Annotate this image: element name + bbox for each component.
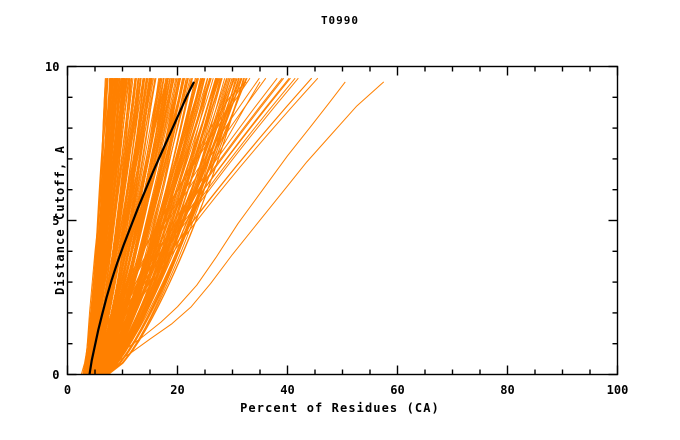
plot-canvas <box>0 0 680 440</box>
y-tick-label: 5 <box>34 214 60 228</box>
x-tick-label: 20 <box>170 383 184 397</box>
y-tick-label: 0 <box>34 368 60 382</box>
x-tick-label: 100 <box>607 383 629 397</box>
x-tick-label: 0 <box>64 383 71 397</box>
chart-figure: T0990 Distance Cutoff, A Percent of Resi… <box>0 0 680 440</box>
y-tick-label: 10 <box>34 60 60 74</box>
page-title: T0990 <box>0 14 680 27</box>
x-axis-label: Percent of Residues (CA) <box>0 401 680 415</box>
x-tick-label: 60 <box>390 383 404 397</box>
x-tick-label: 40 <box>280 383 294 397</box>
x-tick-label: 80 <box>500 383 514 397</box>
